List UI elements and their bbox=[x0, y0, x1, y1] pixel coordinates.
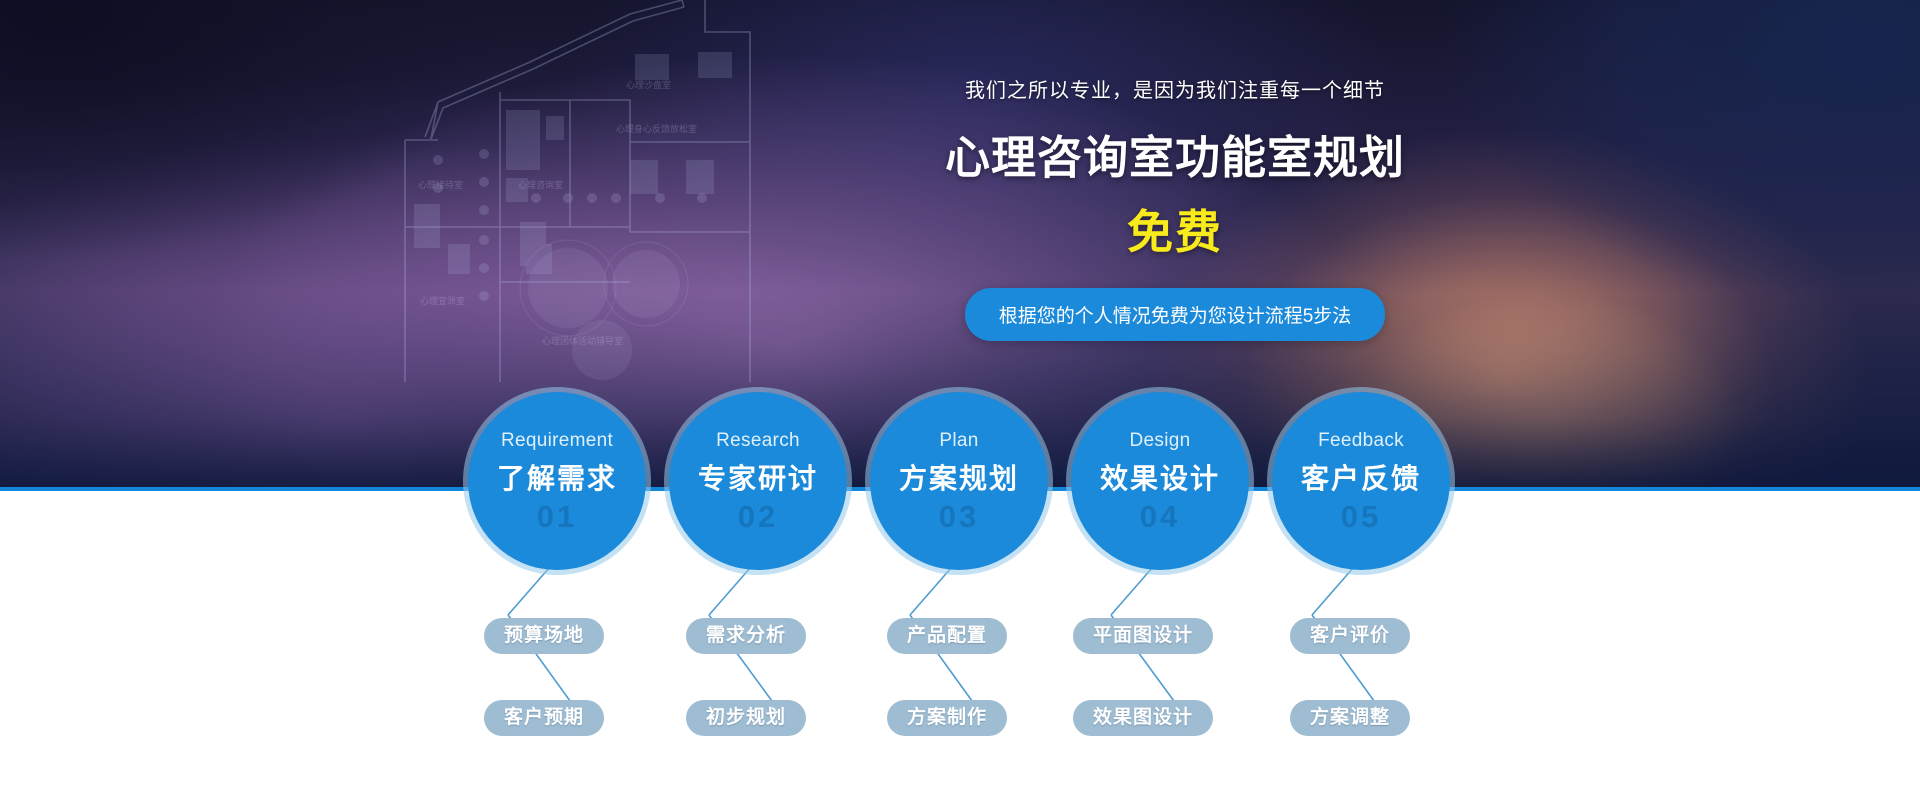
free-badge: 免费 bbox=[940, 196, 1410, 262]
step-number: 04 bbox=[1071, 499, 1249, 535]
step-cn-label: 客户反馈 bbox=[1272, 457, 1450, 497]
step-en-label: Requirement bbox=[468, 430, 646, 452]
step-number: 03 bbox=[870, 499, 1048, 535]
step-en-label: Plan bbox=[870, 430, 1048, 452]
step-circle-2[interactable]: Research 专家研讨 02 bbox=[669, 392, 847, 570]
step-tag-1a[interactable]: 预算场地 bbox=[484, 618, 604, 654]
step-tag-3b[interactable]: 方案制作 bbox=[887, 700, 1007, 736]
step-number: 05 bbox=[1272, 499, 1450, 535]
page-title: 心理咨询室功能室规划 bbox=[940, 121, 1410, 186]
step-tag-5b[interactable]: 方案调整 bbox=[1290, 700, 1410, 736]
step-tag-4a[interactable]: 平面图设计 bbox=[1073, 618, 1213, 654]
step-number: 01 bbox=[468, 499, 646, 535]
step-en-label: Research bbox=[669, 430, 847, 452]
step-tag-2b[interactable]: 初步规划 bbox=[686, 700, 806, 736]
step-en-label: Feedback bbox=[1272, 430, 1450, 452]
step-cn-label: 专家研讨 bbox=[669, 457, 847, 497]
step-circle-3[interactable]: Plan 方案规划 03 bbox=[870, 392, 1048, 570]
step-cn-label: 方案规划 bbox=[870, 457, 1048, 497]
step-en-label: Design bbox=[1071, 430, 1249, 452]
step-cn-label: 了解需求 bbox=[468, 457, 646, 497]
step-circle-1[interactable]: Requirement 了解需求 01 bbox=[468, 392, 646, 570]
step-number: 02 bbox=[669, 499, 847, 535]
step-tag-4b[interactable]: 效果图设计 bbox=[1073, 700, 1213, 736]
step-tag-2a[interactable]: 需求分析 bbox=[686, 618, 806, 654]
step-tag-1b[interactable]: 客户预期 bbox=[484, 700, 604, 736]
step-cn-label: 效果设计 bbox=[1071, 457, 1249, 497]
step-tag-3a[interactable]: 产品配置 bbox=[887, 618, 1007, 654]
headline-block: 我们之所以专业，是因为我们注重每一个细节 心理咨询室功能室规划 免费 根据您的个… bbox=[940, 74, 1410, 341]
step-tag-5a[interactable]: 客户评价 bbox=[1290, 618, 1410, 654]
step-circle-5[interactable]: Feedback 客户反馈 05 bbox=[1272, 392, 1450, 570]
step-circle-4[interactable]: Design 效果设计 04 bbox=[1071, 392, 1249, 570]
cta-button[interactable]: 根据您的个人情况免费为您设计流程5步法 bbox=[965, 288, 1386, 341]
hero-kicker: 我们之所以专业，是因为我们注重每一个细节 bbox=[940, 74, 1410, 103]
